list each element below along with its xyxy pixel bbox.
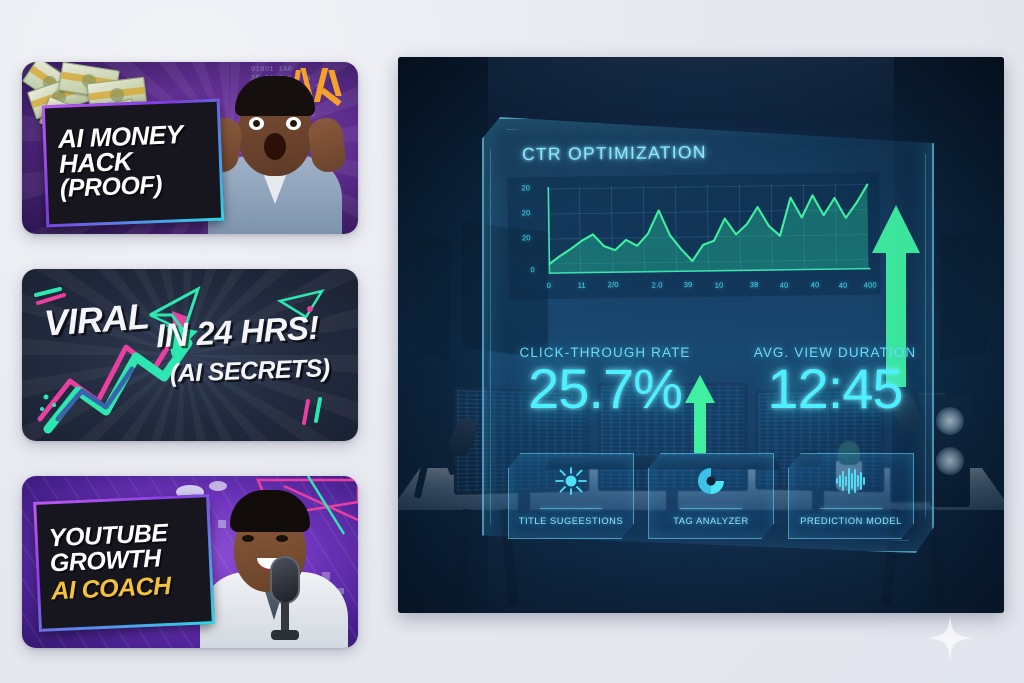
thumbnail-title-plate: AI MONEY HACK (PROOF) bbox=[42, 99, 225, 228]
thumbnail-title-line-3: (PROOF) bbox=[59, 171, 210, 201]
coach-person-illustration bbox=[196, 482, 352, 648]
button-label: PREDICTION MODEL bbox=[800, 516, 902, 526]
arrow-graphics bbox=[22, 269, 358, 441]
thumbnail-card-youtube-growth-ai-coach[interactable]: YOUTUBE GROWTH AI COACH bbox=[22, 476, 358, 648]
metric-value: 12:45 bbox=[730, 360, 940, 418]
button-prediction-model[interactable]: PREDICTION MODEL bbox=[788, 453, 914, 539]
chart-xtick-4: 39 bbox=[684, 280, 693, 289]
metric-avg-view-duration: AVG. VIEW DURATION 12:45 bbox=[730, 345, 940, 418]
sun-burst-icon bbox=[554, 466, 588, 496]
button-title-suggestions[interactable]: TITLE SUGEESTIONS bbox=[508, 453, 634, 539]
button-label: TAG ANALYZER bbox=[673, 516, 748, 526]
thumbnail-title-plate: YOUTUBE GROWTH AI COACH bbox=[33, 494, 215, 632]
thumbnail-list: 01001 1A0 3F 01 0 1 0 4 0 9 8 10 11 0 1 … bbox=[22, 62, 358, 648]
tag-circle-icon bbox=[694, 466, 728, 496]
thumbnail-title-line-2: GROWTH bbox=[49, 545, 201, 577]
chart-ytick-2: 20 bbox=[522, 233, 531, 242]
hud-overlay: CTR OPTIMIZATION bbox=[482, 117, 934, 553]
chart-xtick-1: 11 bbox=[578, 281, 586, 290]
ctr-line-chart[interactable]: 20 20 20 0 0 11 2/0 2.0 39 10 38 40 40 4… bbox=[507, 172, 881, 299]
chart-ytick-1: 20 bbox=[522, 208, 531, 217]
chart-xtick-9: 40 bbox=[839, 281, 848, 290]
chart-xtick-6: 38 bbox=[750, 280, 759, 289]
chart-xtick-7: 40 bbox=[780, 281, 789, 290]
button-tag-analyzer[interactable]: TAG ANALYZER bbox=[648, 453, 774, 539]
chart-xtick-0: 0 bbox=[547, 281, 552, 290]
ctr-dashboard-panel[interactable]: CTR OPTIMIZATION bbox=[398, 57, 1004, 613]
button-label: TITLE SUGEESTIONS bbox=[519, 516, 623, 526]
feature-button-row: TITLE SUGEESTIONS TAG ANALYZER bbox=[508, 453, 914, 539]
sparkle-icon bbox=[928, 615, 972, 661]
thumbnail-card-ai-money-hack[interactable]: 01001 1A0 3F 01 0 1 0 4 0 9 8 10 11 0 1 … bbox=[22, 62, 358, 234]
microphone-icon bbox=[270, 556, 300, 648]
chart-ytick-0: 20 bbox=[521, 183, 530, 192]
chart-xtick-2: 2/0 bbox=[608, 280, 619, 289]
chart-xtick-3: 2.0 bbox=[652, 280, 663, 289]
thumbnail-title-line-3: AI COACH bbox=[51, 572, 203, 604]
chart-plot-area bbox=[507, 172, 881, 299]
chart-ytick-3: 0 bbox=[530, 265, 535, 274]
ctr-trend-up-arrow-icon bbox=[684, 373, 716, 455]
screenshot-root: 01001 1A0 3F 01 0 1 0 4 0 9 8 10 11 0 1 … bbox=[0, 0, 1024, 683]
chart-xtick-5: 10 bbox=[715, 281, 724, 290]
chart-xtick-8: 40 bbox=[811, 280, 820, 289]
thumbnail-card-viral-in-24-hrs[interactable]: VIRAL IN 24 HRS! (AI SECRETS) bbox=[22, 269, 358, 441]
waveform-icon bbox=[834, 466, 868, 496]
dashboard-title: CTR OPTIMIZATION bbox=[522, 142, 707, 165]
